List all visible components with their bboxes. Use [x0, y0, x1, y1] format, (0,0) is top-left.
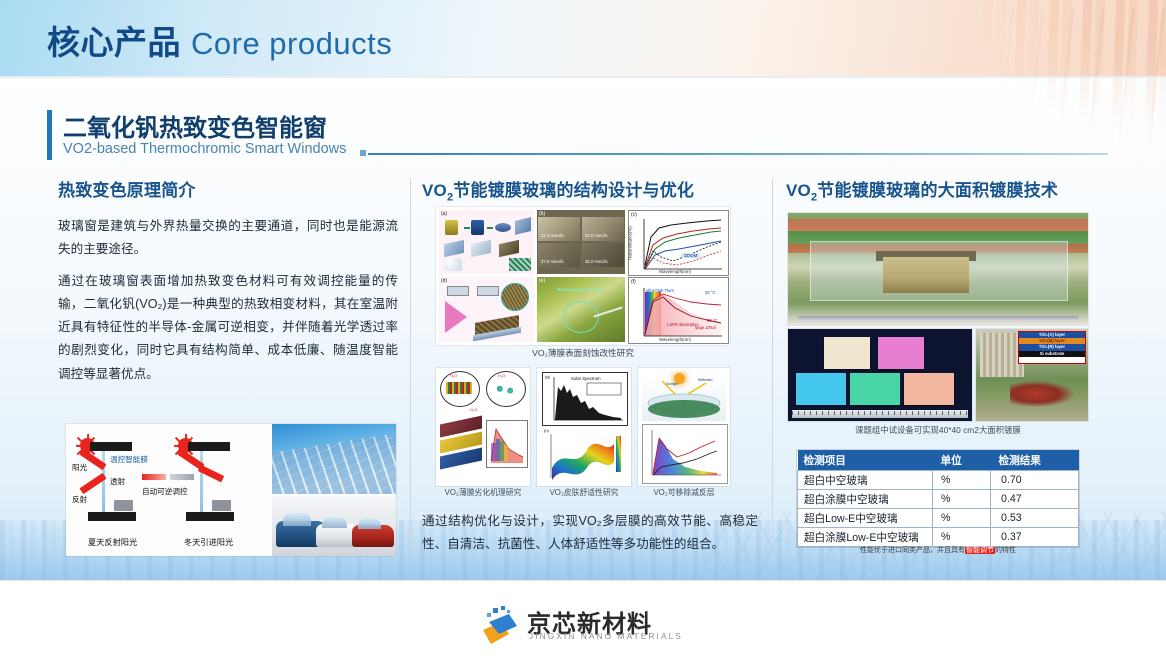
- fig-a-film: [515, 217, 531, 235]
- fig-a-beaker1: [445, 220, 458, 235]
- sb3-ray-diagram: Sunlight Reflected: [642, 371, 726, 421]
- figure-panel-d: (d) ·: [439, 277, 534, 342]
- section-line-dot: [360, 150, 366, 156]
- sb1-h2o-2: H₂O: [498, 374, 505, 378]
- sample-green: [850, 373, 900, 405]
- cell-result: 0.47: [991, 490, 1079, 509]
- svg-text:Sunlight: Sunlight: [666, 382, 678, 386]
- figure-panel-e-leaf-photo: (e) Nano-porous VO₂ film: [537, 277, 625, 342]
- test-results-table: 检测项目 单位 检测结果 超白中空玻璃 % 0.70 超白涂膜中空玻璃 % 0.…: [797, 450, 1079, 547]
- column-middle-heading: VO2节能镀膜玻璃的结构设计与优化: [422, 176, 757, 203]
- floor-winter: [186, 512, 234, 521]
- company-logo: 京芯新材料 JINGXIN NANO MATERIALS: [479, 602, 679, 648]
- fig-b-conc-3: 37.5 mmol/L: [541, 259, 564, 264]
- window-principle-diagram: 阳光 温控智能膜 透射 反射 自动可逆调控 夏天反射阳光 冬天引进阳光: [66, 424, 270, 556]
- sample-cyan: [796, 373, 846, 405]
- cell-item: 超白涂膜Low-E中空玻璃: [798, 528, 933, 547]
- sb1-h2o-3: H₂O: [470, 408, 477, 412]
- figure-panel-b: (b) 31.3 mmol/L 22.6 mmol/L 37.5 mmol/L …: [537, 210, 625, 274]
- ceiling-summer: [90, 442, 132, 451]
- fig-e-annotation: Nano-porous VO₂ film: [557, 287, 603, 292]
- heading-r-vo-post: 节能镀膜玻璃的大面积镀膜技术: [817, 181, 1058, 200]
- coated-samples-photo: [788, 329, 972, 421]
- panel-c-curves: [629, 211, 728, 275]
- table-row: 超白Low-E中空玻璃 % 0.53: [798, 509, 1079, 528]
- caption-winter: 冬天引进阳光: [184, 536, 233, 548]
- fig-a-mesh: [509, 258, 531, 271]
- column-divider-2: [772, 178, 773, 548]
- panel-tag-e: (e): [539, 278, 545, 284]
- label-reflect: 反射: [72, 494, 87, 505]
- heading-r-vo-pre: VO: [786, 181, 811, 200]
- glass-pane-winter: [200, 451, 203, 513]
- panel-f-temp-high: 90 °C: [707, 318, 718, 323]
- sb3-schematic: Sunlight Reflected: [642, 371, 726, 421]
- panel-tag-a: (a): [441, 211, 447, 217]
- cell-unit: %: [933, 509, 991, 528]
- figure-removable-ar-layer: Sunlight Reflected: [638, 368, 730, 486]
- arrow-red-icon: [142, 474, 166, 480]
- figure-degradation-mechanism: H₂O H₂O H₂O: [436, 368, 530, 486]
- fig-a-sphere-pack: [444, 258, 462, 271]
- sub-caption-2: VO₂皮肤舒适性研究: [537, 487, 631, 498]
- fig-a-step1: [444, 240, 464, 257]
- fig-a-step3: [499, 240, 519, 257]
- figure-etching-modification: (a) (b) 31.3 mmol/L 22.6 mmol/L 37.5 mmo…: [436, 207, 730, 345]
- column-left-paragraph-2: 通过在玻璃窗表面增加热致变色材料可有效调控能量的传输，二氧化钒(VO₂)是一种典…: [58, 270, 398, 386]
- fig-a-arrow2-icon: [487, 227, 493, 229]
- glass-support-ledge: [798, 316, 1078, 321]
- table-row: 超白涂膜Low-E中空玻璃 % 0.37: [798, 528, 1079, 547]
- table-row: 超白中空玻璃 % 0.70: [798, 471, 1079, 490]
- fig-a-beaker2: [471, 220, 484, 235]
- cell-unit: %: [933, 490, 991, 509]
- section-title-en: VO2-based Thermochromic Smart Windows: [63, 141, 346, 157]
- smart-window-illustration: 阳光 温控智能膜 透射 反射 自动可逆调控 夏天反射阳光 冬天引进阳光: [66, 424, 396, 556]
- table-header-item: 检测项目: [798, 450, 933, 471]
- fig-a-step2: [471, 240, 491, 257]
- sample-salmon: [904, 373, 954, 405]
- panel-f-lspr: LSPR absorption: [667, 322, 699, 327]
- car-red: [352, 525, 394, 547]
- label-transmit: 透射: [110, 476, 125, 487]
- sample-magenta: [878, 337, 924, 369]
- fig-a-wafer: [495, 223, 511, 232]
- sb2-spectrum-plot: (g) Solar Spectrum: [542, 372, 628, 426]
- large-area-coating-photo: [788, 213, 1088, 325]
- heading-vo-post: 节能镀膜玻璃的结构设计与优化: [453, 181, 694, 200]
- column-right: VO2节能镀膜玻璃的大面积镀膜技术: [786, 176, 1106, 203]
- radiator-summer: [114, 500, 133, 511]
- panel-f-large-dt: large ΔTsol: [695, 325, 716, 330]
- fig-d-zoom-circle: [501, 283, 529, 311]
- panel-c-xlabel: Wavelength(nm): [659, 269, 691, 274]
- sub-caption-1: VO₂薄膜劣化机理研究: [436, 487, 530, 498]
- figure-panel-c-plot: (c) 3DOM Wavelength(nm) Transmittance(%): [628, 210, 729, 276]
- glass-pane-summer: [102, 451, 105, 513]
- fig-b-conc-4: 45.2 mmol/L: [585, 259, 608, 264]
- table-header-unit: 单位: [933, 450, 991, 471]
- sb1-lattice: [446, 382, 472, 394]
- page-title-en: Core products: [191, 26, 392, 61]
- table-row: 超白涂膜中空玻璃 % 0.47: [798, 490, 1079, 509]
- sb2-3d-surface: [542, 428, 626, 482]
- column-divider-1: [410, 178, 411, 548]
- panel-c-ylabel: Transmittance(%): [628, 226, 633, 260]
- layer-label-si-substrate: Si substrate: [1019, 351, 1085, 357]
- footnote-post: 的特性: [995, 547, 1016, 554]
- sb2-surface-plot: (h): [542, 428, 626, 482]
- caption-summer: 夏天反射阳光: [88, 536, 137, 548]
- logo-text-en: JINGXIN NANO MATERIALS: [529, 631, 683, 641]
- label-smart-film: 温控智能膜: [110, 454, 148, 465]
- sb1-plot-curves: [487, 421, 527, 467]
- label-sunlight: 阳光: [72, 462, 87, 473]
- house-body: [883, 257, 969, 293]
- panel-f-temp-low: 20 °C: [705, 290, 716, 295]
- table-footnote: 性能优于进口同类产品，并且具有智能调节的特性: [797, 545, 1079, 555]
- cell-item: 超白中空玻璃: [798, 471, 933, 490]
- panel-tag-d: (d): [441, 278, 447, 284]
- fig-b-conc-2: 22.6 mmol/L: [585, 233, 608, 238]
- sample-cream: [824, 337, 870, 369]
- section-underline: [368, 153, 1108, 155]
- sb1-inset-plot: [486, 420, 528, 468]
- figure-skin-comfort: (g) Solar Spectrum (h): [537, 368, 631, 486]
- column-left-heading: 热致变色原理简介: [58, 176, 398, 201]
- page-title: 核心产品Core products: [47, 16, 392, 64]
- fig-d-label: ·: [444, 295, 445, 300]
- cell-unit: %: [933, 471, 991, 490]
- sb2-spectrum-curve: [543, 373, 627, 425]
- column-middle: VO2节能镀膜玻璃的结构设计与优化: [422, 176, 757, 203]
- right-image-caption: 课题组中试设备可实现40*40 cm2大面积镀膜: [788, 424, 1088, 436]
- cell-unit: %: [933, 528, 991, 547]
- fig-d-substrate2: [477, 286, 499, 296]
- heading-vo-pre: VO: [422, 181, 447, 200]
- sb1-h2o-1: H₂O: [450, 374, 457, 378]
- cell-result: 0.37: [991, 528, 1079, 547]
- sub-caption-3: VO₂可移除减反层: [638, 487, 730, 498]
- figure-panel-a: (a): [439, 210, 534, 274]
- layer-stack-diagram: TiO₂(A) layer VO₂(M) layer TiO₂(R) layer…: [1018, 331, 1086, 364]
- cars-photo: [272, 496, 396, 556]
- fig-a-arrow1-icon: [464, 227, 470, 229]
- figure-caption-etching: VO₂薄膜表面刻蚀改性研究: [436, 347, 730, 359]
- table-header-row: 检测项目 单位 检测结果: [798, 450, 1079, 471]
- fig-d-flask: [445, 301, 467, 333]
- column-left: 热致变色原理简介 玻璃窗是建筑与外界热量交换的主要通道，同时也是能源流失的主要途…: [58, 176, 398, 386]
- label-auto-reversible: 自动可逆调控: [142, 486, 188, 497]
- header-divider: [0, 76, 1166, 78]
- panel-f-xlabel: Wavelength(nm): [659, 337, 691, 342]
- logo-mark-icon: [479, 604, 521, 646]
- cell-item: 超白Low-E中空玻璃: [798, 509, 933, 528]
- figure-panel-f-plot: (f): [628, 277, 729, 344]
- glass-building-photo: [272, 424, 396, 494]
- column-left-paragraph-1: 玻璃窗是建筑与外界热量交换的主要通道，同时也是能源流失的主要途径。: [58, 215, 398, 262]
- svg-text:Reflected: Reflected: [698, 378, 712, 382]
- ruler-icon: [792, 410, 968, 418]
- slide-header: 核心产品Core products: [0, 0, 1166, 76]
- red-path-area: [1010, 381, 1074, 407]
- sb1-cluster: [492, 384, 518, 396]
- ceiling-winter: [188, 442, 230, 451]
- slide-root: 核心产品Core products 二氧化钒热致变色智能窗 VO2-based …: [0, 0, 1166, 658]
- section-accent-bar: [47, 110, 52, 160]
- footnote-highlight: 智能调节: [965, 547, 995, 554]
- fig-d-substrate1: [447, 286, 469, 296]
- column-middle-summary: 通过结构优化与设计，实现VO₂多层膜的高效节能、高稳定性、自清洁、抗菌性、人体舒…: [422, 510, 758, 557]
- cell-result: 0.53: [991, 509, 1079, 528]
- sb3-plot-curves: [643, 425, 727, 483]
- arrow-gray-icon: [170, 474, 194, 480]
- cell-item: 超白涂膜中空玻璃: [798, 490, 933, 509]
- panel-c-annotation-3dom: 3DOM: [681, 253, 700, 258]
- campus-aerial-photo: TiO₂(A) layer VO₂(M) layer TiO₂(R) layer…: [976, 329, 1088, 421]
- footnote-pre: 性能优于进口同类产品，并且具有: [860, 547, 965, 554]
- column-right-heading: VO2节能镀膜玻璃的大面积镀膜技术: [786, 176, 1106, 203]
- page-title-zh: 核心产品: [47, 24, 181, 61]
- panel-f-curves: [629, 278, 728, 343]
- sb3-transmittance-plot: [642, 424, 728, 484]
- radiator-winter: [212, 500, 231, 511]
- fig-b-conc-1: 31.3 mmol/L: [541, 233, 564, 238]
- cell-result: 0.70: [991, 471, 1079, 490]
- floor-summer: [88, 512, 136, 521]
- panel-f-ultrahigh: ultra-high Tlum: [646, 288, 674, 293]
- section-title-zh: 二氧化钒热致变色智能窗: [63, 108, 327, 143]
- table-header-result: 检测结果: [991, 450, 1079, 471]
